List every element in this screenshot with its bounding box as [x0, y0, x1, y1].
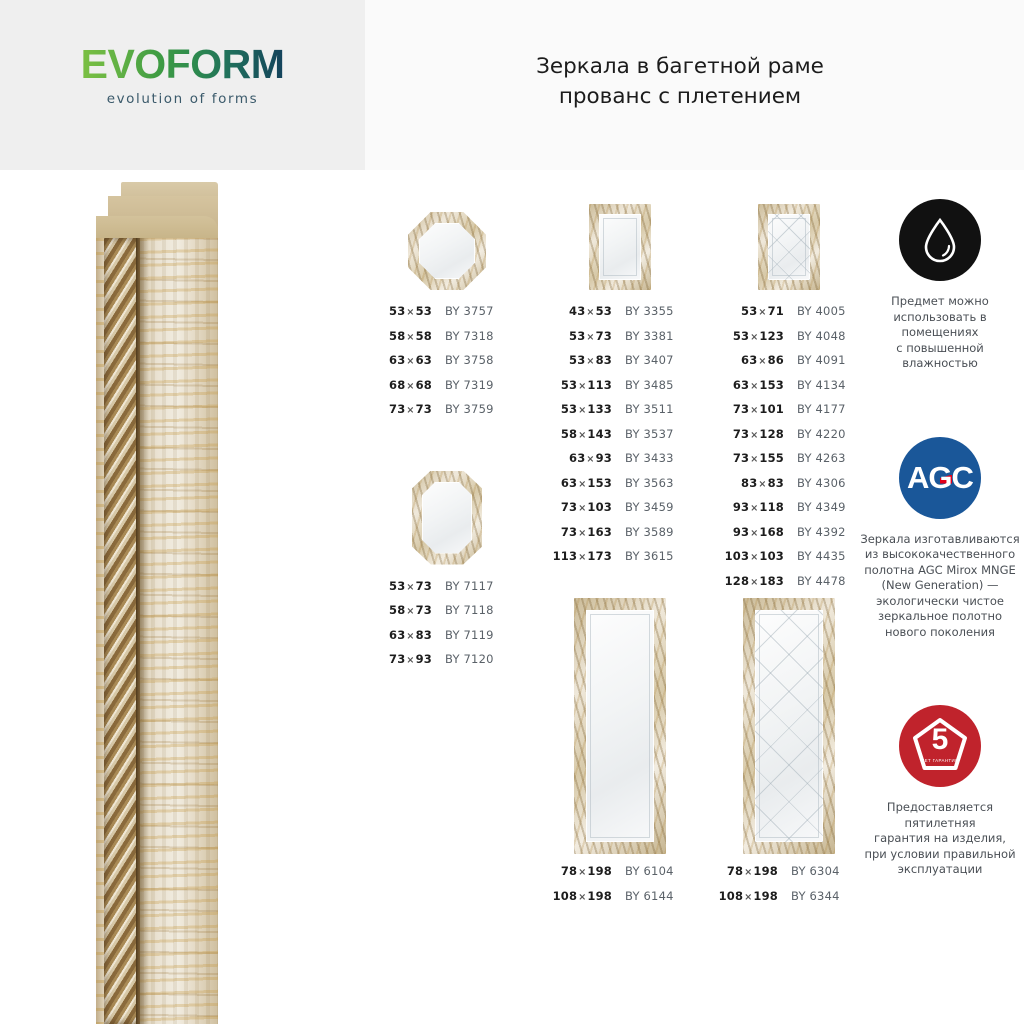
size-dimension: 53×73 — [372, 579, 432, 593]
size-article-code: BY 7318 — [432, 329, 494, 343]
size-article-code: BY 4091 — [784, 353, 846, 367]
size-article-code: BY 3381 — [612, 329, 674, 343]
mirror-octagon-vertical-icon — [412, 471, 482, 565]
size-article-code: BY 3537 — [612, 427, 674, 441]
badge-agc: AGC Зеркала изготавливаютсяиз высококаче… — [856, 424, 1024, 641]
size-article-code: BY 4435 — [784, 549, 846, 563]
warranty-5-years-icon: 5 ЛЕТ ГАРАНТИИ — [856, 692, 1024, 800]
size-article-code: BY 4306 — [784, 476, 846, 490]
size-row[interactable]: 53×83BY 3407 — [540, 353, 700, 378]
size-row[interactable]: 78×198BY 6304 — [706, 864, 871, 889]
logo-tagline: evolution of forms — [0, 91, 365, 107]
mirror-bevel — [590, 614, 650, 838]
tall-mirror-engraved-block: 78×198BY 6304108×198BY 6344 — [706, 592, 871, 913]
caption-line: нового поколения — [856, 625, 1024, 641]
badge-warranty: 5 ЛЕТ ГАРАНТИИ Предоставляетсяпятилетняя… — [856, 692, 1024, 878]
caption-line: экологически чистое — [856, 594, 1024, 610]
size-dimension: 63×83 — [372, 628, 432, 642]
size-article-code: BY 7118 — [432, 603, 494, 617]
size-row[interactable]: 63×83BY 7119 — [372, 628, 522, 653]
size-list-tall-engraved: 78×198BY 6304108×198BY 6344 — [706, 864, 871, 913]
thumb-tall-engraved[interactable] — [706, 592, 871, 854]
thumb-tall-plain[interactable] — [540, 592, 700, 854]
size-article-code: BY 6144 — [612, 889, 674, 903]
size-article-code: BY 4263 — [784, 451, 846, 465]
size-article-code: BY 3459 — [612, 500, 674, 514]
size-dimension: 63×153 — [540, 476, 612, 490]
size-dimension: 73×128 — [706, 427, 784, 441]
thumb-rectangle-plain[interactable] — [540, 182, 700, 290]
size-dimension: 63×93 — [540, 451, 612, 465]
size-row[interactable]: 73×73BY 3759 — [372, 402, 522, 427]
agc-logo-icon: AGC — [856, 424, 1024, 532]
size-row[interactable]: 108×198BY 6344 — [706, 889, 871, 914]
size-row[interactable]: 93×118BY 4349 — [706, 500, 871, 525]
warranty-sublabel: ЛЕТ ГАРАНТИИ — [899, 758, 981, 763]
size-row[interactable]: 103×103BY 4435 — [706, 549, 871, 574]
size-article-code: BY 7117 — [432, 579, 494, 593]
size-article-code: BY 3615 — [612, 549, 674, 563]
size-list-rectangle-engraved: 53×71BY 400553×123BY 404863×86BY 409163×… — [706, 304, 871, 598]
size-row[interactable]: 53×123BY 4048 — [706, 329, 871, 354]
badge-warranty-text: Предоставляетсяпятилетняягарантия на изд… — [856, 800, 1024, 878]
caption-line: влажностью — [856, 356, 1024, 372]
caption-line: Зеркала изготавливаются — [856, 532, 1024, 548]
mirror-bevel — [603, 218, 637, 276]
thumb-octagon-vertical[interactable] — [372, 447, 522, 565]
size-dimension: 128×183 — [706, 574, 784, 588]
size-article-code: BY 4177 — [784, 402, 846, 416]
size-dimension: 73×103 — [540, 500, 612, 514]
size-list-octagon-vertical: 53×73BY 711758×73BY 711863×83BY 711973×9… — [372, 579, 522, 677]
size-dimension: 73×93 — [372, 652, 432, 666]
size-dimension: 43×53 — [540, 304, 612, 318]
caption-line: помещениях — [856, 325, 1024, 341]
size-dimension: 53×83 — [540, 353, 612, 367]
size-row[interactable]: 53×53BY 3757 — [372, 304, 522, 329]
caption-line: эксплуатации — [856, 862, 1024, 878]
size-dimension: 53×53 — [372, 304, 432, 318]
size-article-code: BY 3485 — [612, 378, 674, 392]
size-dimension: 93×118 — [706, 500, 784, 514]
badge-agc-text: Зеркала изготавливаютсяиз высококачестве… — [856, 532, 1024, 641]
size-row[interactable]: 53×113BY 3485 — [540, 378, 700, 403]
size-row[interactable]: 73×163BY 3589 — [540, 525, 700, 550]
column-octagon: 53×53BY 375758×58BY 731863×63BY 375868×6… — [372, 182, 522, 677]
size-dimension: 53×73 — [540, 329, 612, 343]
size-dimension: 113×173 — [540, 549, 612, 563]
caption-line: Предмет можно — [856, 294, 1024, 310]
size-dimension: 78×198 — [706, 864, 778, 878]
thumb-octagon-square[interactable] — [372, 182, 522, 290]
size-row[interactable]: 43×53BY 3355 — [540, 304, 700, 329]
size-row[interactable]: 73×101BY 4177 — [706, 402, 871, 427]
size-article-code: BY 7119 — [432, 628, 494, 642]
size-dimension: 103×103 — [706, 549, 784, 563]
size-dimension: 58×58 — [372, 329, 432, 343]
size-article-code: BY 4005 — [784, 304, 846, 318]
size-dimension: 63×86 — [706, 353, 784, 367]
size-row[interactable]: 58×143BY 3537 — [540, 427, 700, 452]
size-dimension: 73×73 — [372, 402, 432, 416]
size-article-code: BY 4134 — [784, 378, 846, 392]
size-row[interactable]: 73×93BY 7120 — [372, 652, 522, 677]
size-article-code: BY 6304 — [778, 864, 840, 878]
size-dimension: 108×198 — [540, 889, 612, 903]
frame-moulding-sample — [96, 182, 218, 1024]
column-rectangle-engraved: 53×71BY 400553×123BY 404863×86BY 409163×… — [706, 182, 871, 598]
size-article-code: BY 3563 — [612, 476, 674, 490]
page-title-line-1: Зеркала в багетной раме — [400, 52, 960, 82]
size-row[interactable]: 108×198BY 6144 — [540, 889, 700, 914]
size-article-code: BY 4349 — [784, 500, 846, 514]
page-title: Зеркала в багетной раме прованс с плетен… — [400, 52, 960, 112]
size-dimension: 108×198 — [706, 889, 778, 903]
size-dimension: 58×143 — [540, 427, 612, 441]
size-row[interactable]: 63×93BY 3433 — [540, 451, 700, 476]
caption-line: (New Generation) — — [856, 578, 1024, 594]
water-drop-icon — [856, 186, 1024, 294]
mirror-tall-grid-icon — [743, 598, 835, 854]
size-row[interactable]: 93×168BY 4392 — [706, 525, 871, 550]
mirror-rectangle-icon — [589, 204, 651, 290]
size-row[interactable]: 63×153BY 3563 — [540, 476, 700, 501]
size-row[interactable]: 58×73BY 7118 — [372, 603, 522, 628]
size-row[interactable]: 58×58BY 7318 — [372, 329, 522, 354]
size-article-code: BY 3589 — [612, 525, 674, 539]
size-dimension: 78×198 — [540, 864, 612, 878]
thumb-rectangle-engraved[interactable] — [706, 182, 871, 290]
moulding-body — [96, 238, 218, 1024]
size-article-code: BY 4392 — [784, 525, 846, 539]
size-dimension: 63×63 — [372, 353, 432, 367]
size-dimension: 83×83 — [706, 476, 784, 490]
size-row[interactable]: 53×73BY 7117 — [372, 579, 522, 604]
size-row[interactable]: 73×155BY 4263 — [706, 451, 871, 476]
badge-moisture: Предмет можноиспользовать впомещенияхс п… — [856, 186, 1024, 372]
size-article-code: BY 3758 — [432, 353, 494, 367]
caption-line: с повышенной — [856, 341, 1024, 357]
size-article-code: BY 6104 — [612, 864, 674, 878]
badge-moisture-text: Предмет можноиспользовать впомещенияхс п… — [856, 294, 1024, 372]
mirror-bevel — [759, 614, 819, 838]
mirror-octagon-icon — [408, 212, 486, 290]
size-dimension: 73×155 — [706, 451, 784, 465]
tall-mirror-plain-block: 78×198BY 6104108×198BY 6144 — [540, 592, 700, 913]
logo-panel: EVOFORM evolution of forms — [0, 0, 365, 170]
size-row[interactable]: 63×86BY 4091 — [706, 353, 871, 378]
caption-line: использовать в — [856, 310, 1024, 326]
size-dimension: 73×101 — [706, 402, 784, 416]
mirror-rectangle-grid-icon — [758, 204, 820, 290]
size-row[interactable]: 63×153BY 4134 — [706, 378, 871, 403]
size-article-code: BY 3511 — [612, 402, 674, 416]
size-dimension: 73×163 — [540, 525, 612, 539]
page-title-line-2: прованс с плетением — [400, 82, 960, 112]
size-row[interactable]: 53×133BY 3511 — [540, 402, 700, 427]
size-row[interactable]: 83×83BY 4306 — [706, 476, 871, 501]
size-row[interactable]: 78×198BY 6104 — [540, 864, 700, 889]
agc-label: AGC — [907, 460, 973, 496]
caption-line: при условии правильной — [856, 847, 1024, 863]
warranty-number: 5 — [899, 723, 981, 757]
size-article-code: BY 3759 — [432, 402, 494, 416]
moulding-face-shadow — [140, 238, 149, 1024]
size-article-code: BY 3757 — [432, 304, 494, 318]
size-list-rectangle-plain: 43×53BY 335553×73BY 338153×83BY 340753×1… — [540, 304, 700, 574]
size-row[interactable]: 68×68BY 7319 — [372, 378, 522, 403]
size-dimension: 53×113 — [540, 378, 612, 392]
column-rectangle-plain: 43×53BY 335553×73BY 338153×83BY 340753×1… — [540, 182, 700, 574]
size-article-code: BY 4048 — [784, 329, 846, 343]
size-dimension: 93×168 — [706, 525, 784, 539]
size-dimension: 68×68 — [372, 378, 432, 392]
size-article-code: BY 7120 — [432, 652, 494, 666]
caption-line: пятилетняя — [856, 816, 1024, 832]
size-article-code: BY 4220 — [784, 427, 846, 441]
size-row[interactable]: 53×71BY 4005 — [706, 304, 871, 329]
size-row[interactable]: 63×63BY 3758 — [372, 353, 522, 378]
moulding-front-face — [140, 238, 218, 1024]
caption-line: из высококачественного — [856, 547, 1024, 563]
mirror-tall-icon — [574, 598, 666, 854]
page-header: EVOFORM evolution of forms Зеркала в баг… — [0, 0, 1024, 170]
caption-line: гарантия на изделия, — [856, 831, 1024, 847]
size-dimension: 53×71 — [706, 304, 784, 318]
caption-line: зеркальное полотно — [856, 609, 1024, 625]
caption-line: Предоставляется — [856, 800, 1024, 816]
size-article-code: BY 6344 — [778, 889, 840, 903]
mirror-bevel — [772, 218, 806, 276]
brand-logo: EVOFORM evolution of forms — [0, 44, 365, 107]
size-list-octagon-square: 53×53BY 375758×58BY 731863×63BY 375868×6… — [372, 304, 522, 427]
size-article-code: BY 7319 — [432, 378, 494, 392]
size-row[interactable]: 113×173BY 3615 — [540, 549, 700, 574]
size-list-tall-plain: 78×198BY 6104108×198BY 6144 — [540, 864, 700, 913]
size-article-code: BY 3407 — [612, 353, 674, 367]
logo-wordmark: EVOFORM — [81, 44, 285, 85]
size-dimension: 53×133 — [540, 402, 612, 416]
caption-line: полотна AGC Mirox MNGE — [856, 563, 1024, 579]
size-row[interactable]: 73×103BY 3459 — [540, 500, 700, 525]
size-dimension: 53×123 — [706, 329, 784, 343]
size-dimension: 58×73 — [372, 603, 432, 617]
size-article-code: BY 3355 — [612, 304, 674, 318]
size-row[interactable]: 53×73BY 3381 — [540, 329, 700, 354]
feature-badges: Предмет можноиспользовать впомещенияхс п… — [856, 186, 1024, 878]
size-row[interactable]: 73×128BY 4220 — [706, 427, 871, 452]
size-article-code: BY 4478 — [784, 574, 846, 588]
catalog-page: EVOFORM evolution of forms Зеркала в баг… — [0, 0, 1024, 1024]
size-article-code: BY 3433 — [612, 451, 674, 465]
size-dimension: 63×153 — [706, 378, 784, 392]
